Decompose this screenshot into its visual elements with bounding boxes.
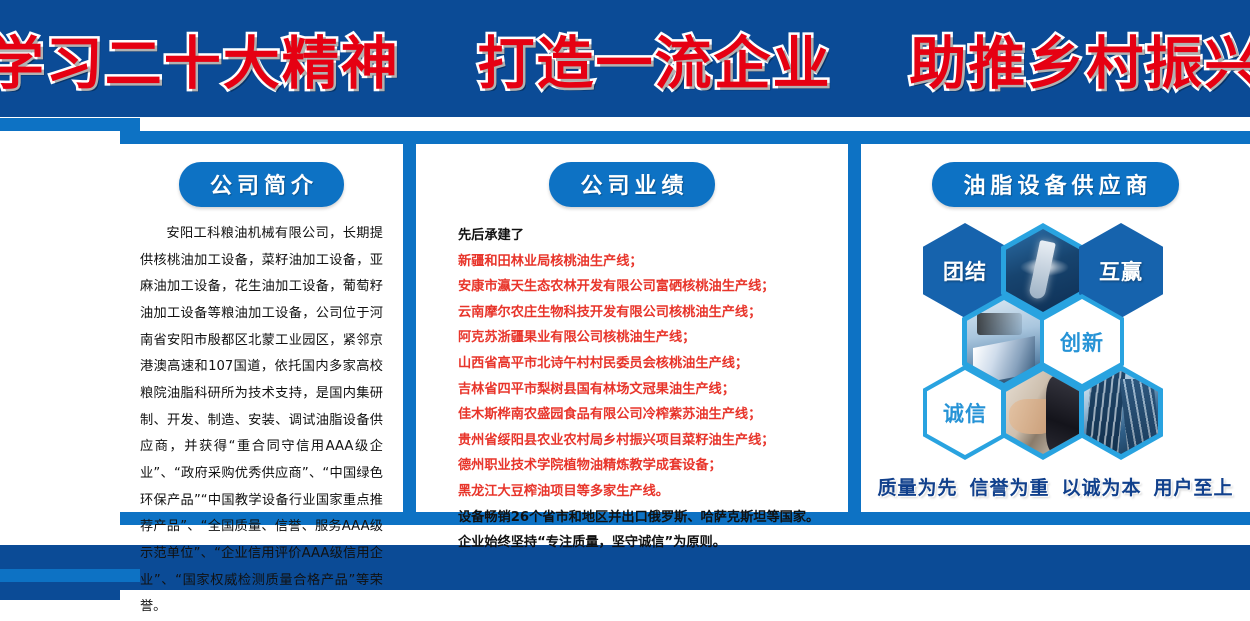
hex-handshake-image (1006, 371, 1080, 454)
panel-company-profile: 公司简介 安阳工科粮油机械有限公司，长期提供核桃油加工设备，菜籽油加工设备，亚麻… (120, 144, 403, 512)
hex-tuanjie-label: 团结 (943, 256, 987, 286)
performance-project-item: 吉林省四平市梨树县国有林场文冠果油生产线； (458, 377, 848, 403)
hex-building-image (1084, 371, 1158, 454)
banner: 学习二十大精神 打造一流企业 助推乡村振兴 (0, 0, 1250, 117)
performance-project-item: 新疆和田林业局核桃油生产线； (458, 249, 848, 275)
hex-huying-label: 互赢 (1099, 256, 1143, 286)
company-profile-body: 安阳工科粮油机械有限公司，长期提供核桃油加工设备，菜籽油加工设备，亚麻油加工设备… (140, 221, 383, 621)
panel-divider-2 (848, 144, 861, 512)
office-building-icon (1084, 371, 1158, 454)
slogan-part-2: 信誉为重 (969, 473, 1049, 500)
panel-supplier: 油脂设备供应商 团结 互赢 创新 (861, 144, 1250, 512)
banner-title: 学习二十大精神 打造一流企业 助推乡村振兴 (0, 18, 1250, 100)
pill-company-performance: 公司业绩 (549, 162, 714, 207)
banner-segment-2: 打造一流企业 (478, 31, 832, 97)
performance-project-list: 新疆和田林业局核桃油生产线；安康市瀛天生态农林开发有限公司富硒核桃油生产线；云南… (458, 249, 848, 505)
performance-lead: 先后承建了 (458, 223, 848, 249)
hex-chuangxin-label: 创新 (1060, 327, 1104, 357)
pill-company-profile: 公司简介 (179, 162, 344, 207)
performance-project-item: 阿克苏浙疆果业有限公司核桃油生产线； (458, 325, 848, 351)
slogan-part-1: 质量为先 (877, 473, 957, 500)
success-mountain-icon (967, 300, 1041, 383)
handshake-icon (1006, 371, 1080, 454)
poster-root: 学习二十大精神 打造一流企业 助推乡村振兴 公司简介 安阳工科粮油机械有限公司，… (0, 0, 1250, 590)
banner-segment-3: 助推乡村振兴 (909, 31, 1250, 97)
panel-divider-1 (403, 144, 416, 512)
frame-corner-top-left-light (0, 118, 140, 338)
performance-project-item: 云南摩尔农庄生物科技开发有限公司核桃油生产线； (458, 300, 848, 326)
panel-company-performance: 公司业绩 先后承建了 新疆和田林业局核桃油生产线；安康市瀛天生态农林开发有限公司… (416, 144, 848, 512)
frame-corner-bottom-left-light (0, 370, 140, 582)
performance-project-item: 安康市瀛天生态农林开发有限公司富硒核桃油生产线； (458, 274, 848, 300)
performance-tail-line: 企业始终坚持“专注质量，坚守诚信”为原则。 (458, 530, 848, 556)
supplier-slogan: 质量为先信誉为重以诚为本用户至上 (861, 473, 1250, 500)
aircraft-carrier-icon (1006, 229, 1080, 312)
performance-project-item: 德州职业技术学院植物油精炼教学成套设备； (458, 453, 848, 479)
performance-project-item: 贵州省绥阳县农业农村局乡村振兴项目菜籽油生产线； (458, 428, 848, 454)
performance-project-item: 黑龙江大豆榨油项目等多家生产线。 (458, 479, 848, 505)
performance-tail-line: 设备畅销26个省市和地区并出口俄罗斯、哈萨克斯坦等国家。 (458, 505, 848, 531)
hex-carrier-image (1006, 229, 1080, 312)
performance-project-item: 山西省高平市北诗午村村民委员会核桃油生产线； (458, 351, 848, 377)
slogan-part-4: 用户至上 (1154, 473, 1234, 500)
performance-tail-list: 设备畅销26个省市和地区并出口俄罗斯、哈萨克斯坦等国家。企业始终坚持“专注质量，… (458, 505, 848, 556)
slogan-part-3: 以诚为本 (1062, 473, 1142, 500)
frame-bar-top (120, 131, 1250, 144)
performance-project-item: 佳木斯桦南农盛园食品有限公司冷榨紫苏油生产线； (458, 402, 848, 428)
performance-list-wrap: 先后承建了 新疆和田林业局核桃油生产线；安康市瀛天生态农林开发有限公司富硒核桃油… (458, 223, 848, 556)
hexagon-cluster: 团结 互赢 创新 诚信 (861, 217, 1250, 467)
banner-segment-1: 学习二十大精神 (0, 31, 400, 97)
hex-chengxin-label: 诚信 (943, 398, 987, 428)
panels-container: 公司简介 安阳工科粮油机械有限公司，长期提供核桃油加工设备，菜籽油加工设备，亚麻… (120, 144, 1250, 512)
hex-success-image (967, 300, 1041, 383)
pill-supplier: 油脂设备供应商 (932, 162, 1178, 207)
